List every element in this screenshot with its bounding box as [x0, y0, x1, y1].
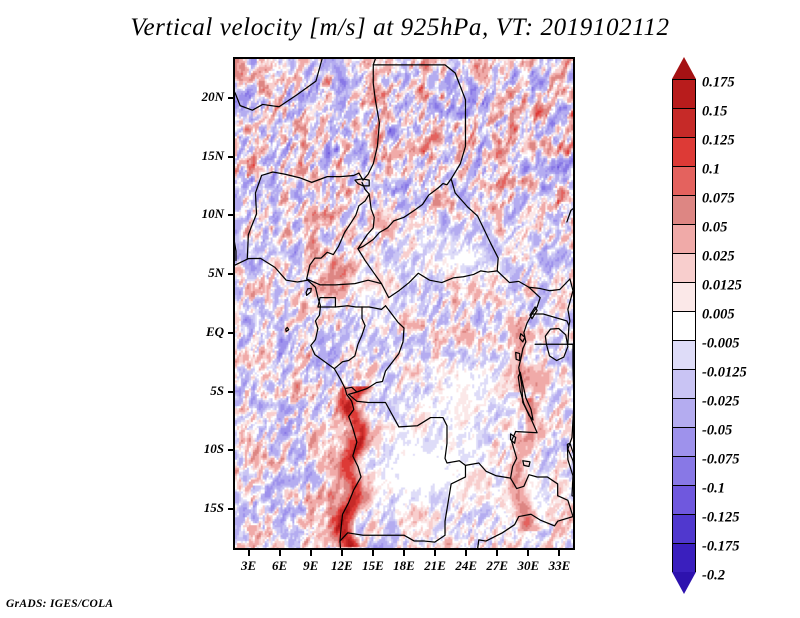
colorbar-cell [672, 224, 696, 253]
map-border-line [568, 279, 573, 344]
ytick-mark [228, 97, 234, 99]
map-border-line [240, 59, 322, 110]
xtick-mark [341, 550, 343, 556]
colorbar-label: -0.175 [702, 538, 739, 555]
map-border-line [497, 271, 570, 291]
colorbar [672, 57, 696, 594]
xtick-mark [434, 550, 436, 556]
ytick-mark [228, 508, 234, 510]
map-border-line [516, 349, 537, 433]
map-border-line [345, 387, 357, 392]
ytick-mark [228, 449, 234, 451]
colorbar-cell [672, 253, 696, 282]
map-border-line [340, 465, 466, 542]
xtick-mark [372, 550, 374, 556]
colorbar-cell [672, 282, 696, 311]
ytick-mark [228, 332, 234, 334]
grads-credit: GrADS: IGES/COLA [6, 598, 113, 610]
map-border-line [362, 306, 386, 310]
map-border-line [307, 279, 382, 285]
map-border-line [334, 307, 365, 369]
ytick-label-15N: 15N [202, 148, 224, 164]
xtick-mark [465, 550, 467, 556]
colorbar-extend-low-arrow [672, 572, 696, 594]
map-border-line [451, 179, 498, 271]
map-border-line [567, 206, 573, 222]
ytick-label-5N: 5N [208, 265, 224, 281]
map-border-line [516, 352, 520, 360]
map-border-line [247, 193, 256, 259]
map-border-line [335, 306, 362, 307]
xtick-mark [403, 550, 405, 556]
colorbar-label: 0.125 [702, 132, 735, 149]
colorbar-cell [672, 166, 696, 195]
colorbar-cell [672, 195, 696, 224]
colorbar-label: -0.05 [702, 422, 732, 439]
map-border-line [358, 249, 497, 298]
map-border-line [567, 443, 573, 498]
xtick-label-21E: 21E [424, 558, 446, 574]
ytick-label-EQ: EQ [206, 324, 224, 340]
map-plot-area [233, 57, 575, 550]
ytick-mark [228, 156, 234, 158]
page-title: Vertical velocity [m/s] at 925hPa, VT: 2… [0, 14, 800, 42]
colorbar-label: 0.1 [702, 161, 720, 178]
country-border-overlay [235, 59, 573, 548]
map-border-line [465, 463, 557, 496]
colorbar-cell [672, 137, 696, 166]
colorbar-cell [672, 427, 696, 456]
colorbar-label: 0.075 [702, 190, 735, 207]
xtick-label-12E: 12E [331, 558, 353, 574]
map-border-line [306, 288, 311, 295]
map-border-line [478, 496, 573, 548]
colorbar-label: 0.005 [702, 306, 735, 323]
colorbar-cell [672, 543, 696, 572]
ytick-label-5S: 5S [210, 383, 224, 399]
colorbar-label: -0.2 [702, 567, 725, 584]
xtick-mark [527, 550, 529, 556]
map-border-line [349, 394, 466, 465]
xtick-mark [310, 550, 312, 556]
map-border-line [255, 172, 363, 193]
xtick-label-27E: 27E [486, 558, 508, 574]
colorbar-cell [672, 514, 696, 543]
ytick-label-20N: 20N [202, 89, 224, 105]
colorbar-cell [672, 340, 696, 369]
colorbar-label: -0.025 [702, 393, 739, 410]
ytick-mark [228, 391, 234, 393]
map-border-line [235, 93, 240, 106]
colorbar-label: -0.1 [702, 480, 725, 497]
ytick-mark [228, 214, 234, 216]
colorbar-cell [672, 369, 696, 398]
map-border-line [235, 205, 236, 261]
colorbar-label: -0.125 [702, 509, 739, 526]
xtick-mark [558, 550, 560, 556]
map-border-line [363, 59, 379, 180]
colorbar-label: -0.0125 [702, 364, 747, 381]
colorbar-label: 0.0125 [702, 277, 742, 294]
xtick-label-6E: 6E [272, 558, 287, 574]
colorbar-label: -0.075 [702, 451, 739, 468]
map-border-line [235, 258, 361, 548]
colorbar-cell [672, 108, 696, 137]
ytick-label-10S: 10S [204, 441, 224, 457]
xtick-label-18E: 18E [393, 558, 415, 574]
colorbar-extend-high-arrow [672, 57, 696, 79]
ytick-mark [228, 273, 234, 275]
colorbar-cell [672, 79, 696, 108]
ytick-label-10N: 10N [202, 206, 224, 222]
colorbar-cell [672, 311, 696, 340]
ytick-label-15S: 15S [204, 500, 224, 516]
colorbar-label: 0.025 [702, 248, 735, 265]
xtick-label-9E: 9E [303, 558, 318, 574]
colorbar-cell [672, 398, 696, 427]
map-border-line [532, 314, 569, 326]
map-border-line [307, 182, 370, 279]
map-border-line [286, 327, 289, 331]
map-border-line [523, 461, 530, 467]
xtick-mark [248, 550, 250, 556]
xtick-label-3E: 3E [241, 558, 256, 574]
colorbar-label: -0.005 [702, 335, 739, 352]
xtick-mark [496, 550, 498, 556]
xtick-label-15E: 15E [362, 558, 384, 574]
colorbar-label: 0.175 [702, 74, 735, 91]
xtick-label-30E: 30E [518, 558, 540, 574]
xtick-label-24E: 24E [455, 558, 477, 574]
colorbar-cell [672, 485, 696, 514]
xtick-label-33E: 33E [549, 558, 571, 574]
map-border-line [373, 65, 465, 188]
xtick-mark [279, 550, 281, 556]
colorbar-label: 0.15 [702, 103, 727, 120]
colorbar-label: 0.05 [702, 219, 727, 236]
colorbar-cell [672, 456, 696, 485]
